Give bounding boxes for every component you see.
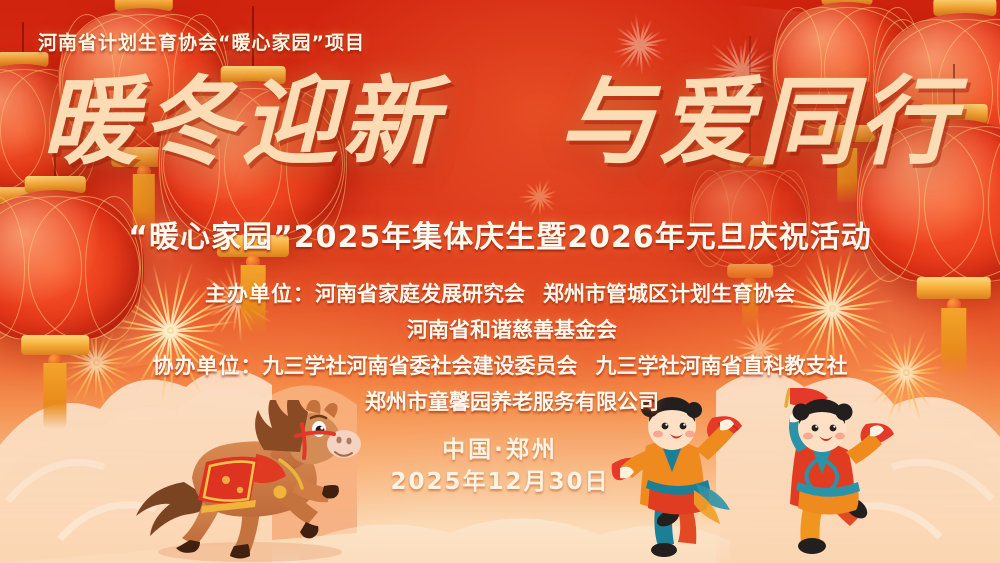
organizer-entry: 河南省家庭发展研究会 — [315, 282, 525, 306]
co-organizer-row: 协办单位：九三学社河南省委社会建设委员会九三学社河南省直科教支社 — [0, 348, 1000, 384]
project-kicker: 河南省计划生育协会“暖心家园”项目 — [38, 28, 365, 55]
organizer-entry: 河南省和谐慈善基金会 — [407, 318, 617, 342]
organizer-row: 主办单位：河南省家庭发展研究会郑州市管城区计划生育协会 — [0, 276, 1000, 312]
festival-poster: 河南省计划生育协会“暖心家园”项目 暖冬迎新 与爱同行 “暖心家园”2025年集… — [0, 0, 1000, 563]
organizer-block: 主办单位：河南省家庭发展研究会郑州市管城区计划生育协会 河南省和谐慈善基金会 协… — [0, 276, 1000, 420]
organizer-label: 主办单位： — [205, 282, 315, 306]
event-location: 中国·郑州 — [0, 430, 1000, 464]
lantern-cord — [22, 22, 24, 52]
co-organizer-entry: 九三学社河南省委社会建设委员会 — [263, 354, 578, 378]
organizer-entry: 郑州市管城区计划生育协会 — [543, 282, 795, 306]
main-title-part1: 暖冬迎新 — [42, 65, 442, 178]
event-date: 2025年12月30日 — [0, 462, 1000, 496]
page-title: 暖冬迎新 与爱同行 — [0, 72, 1000, 173]
co-organizer-entry: 九三学社河南省直科教支社 — [596, 354, 848, 378]
co-organizer-entry: 郑州市童馨园养老服务有限公司 — [365, 390, 659, 414]
co-organizer-row: 郑州市童馨园养老服务有限公司 — [0, 384, 1000, 420]
event-subtitle: “暖心家园”2025年集体庆生暨2026年元旦庆祝活动 — [0, 212, 1000, 256]
organizer-row: 河南省和谐慈善基金会 — [0, 312, 1000, 348]
main-title-part2: 与爱同行 — [558, 65, 958, 178]
co-organizer-label: 协办单位： — [153, 354, 263, 378]
